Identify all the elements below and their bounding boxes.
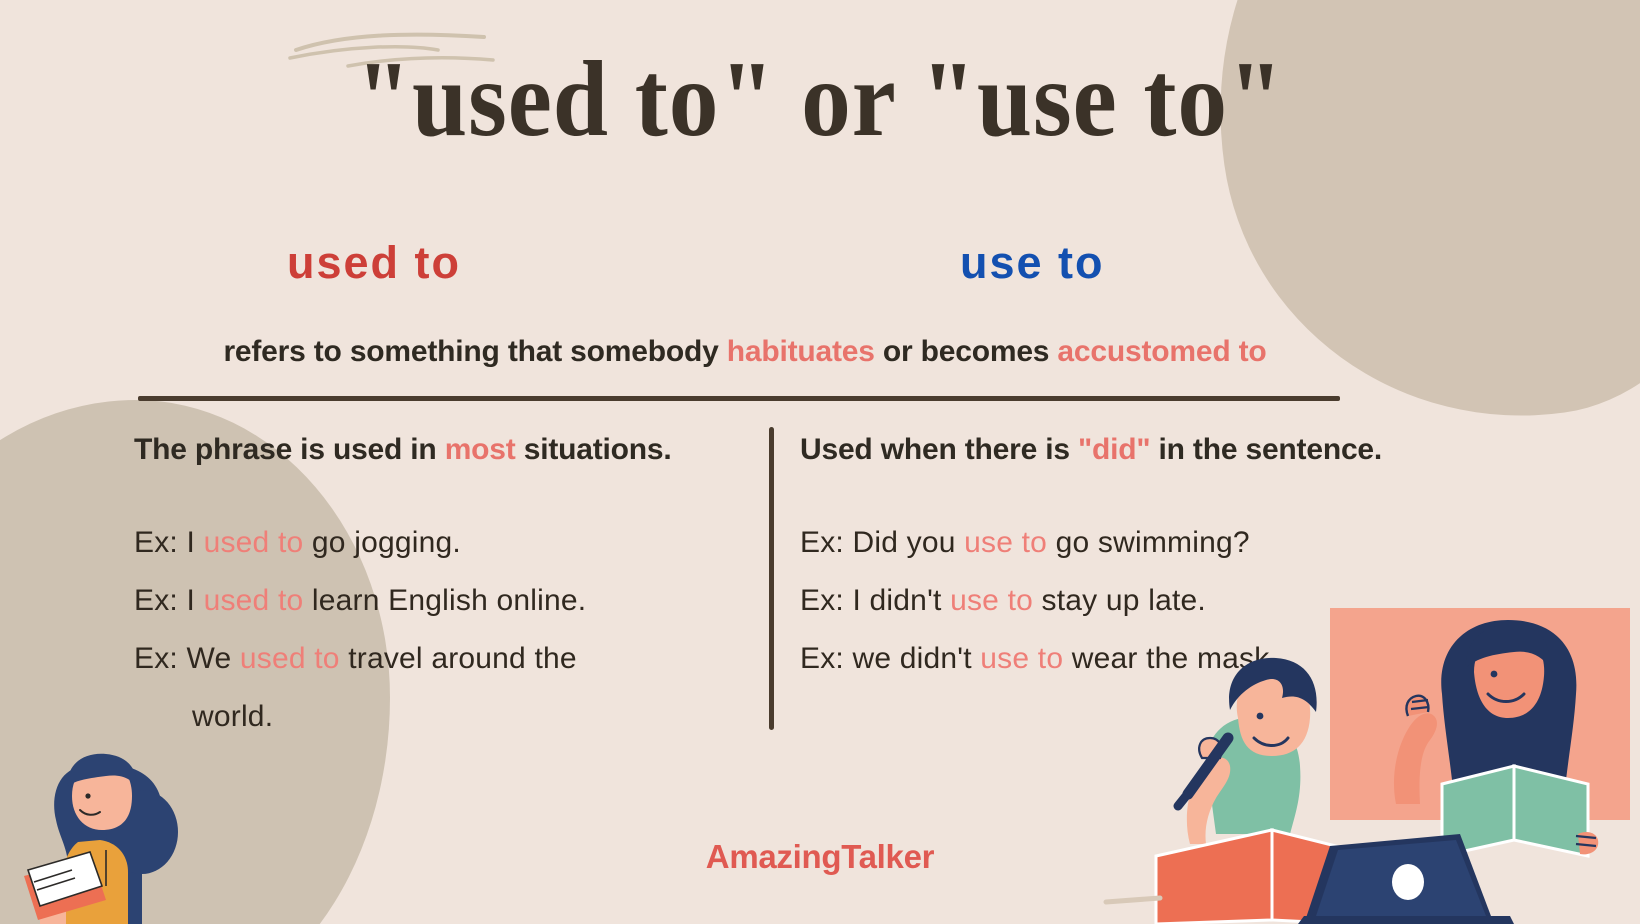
heading-used-to: used to — [287, 234, 461, 292]
left-examples: Ex: I used to go jogging. Ex: I used to … — [134, 514, 749, 746]
definition-part2: or becomes — [875, 335, 1058, 368]
example-highlight: used to — [240, 642, 340, 675]
list-item: Ex: I used to learn English online. — [134, 572, 749, 630]
vertical-divider — [769, 427, 774, 730]
example-suffix: learn English online. — [303, 584, 586, 617]
example-prefix: Ex: I — [134, 584, 204, 617]
example-continuation: world. — [134, 688, 749, 746]
example-highlight: used to — [204, 584, 304, 617]
left-lead-part2: situations. — [516, 433, 672, 466]
infographic-canvas: "used to" or "use to" used to use to ref… — [0, 0, 1640, 924]
example-highlight: use to — [964, 526, 1047, 559]
list-item: Ex: Did you use to go swimming? — [800, 514, 1460, 572]
definition-highlight-habituates: habituates — [727, 335, 875, 368]
definition-part1: refers to something that somebody — [223, 335, 726, 368]
definition-highlight-accustomed: accustomed to — [1057, 335, 1266, 368]
right-lead-highlight: "did" — [1078, 433, 1150, 466]
horizontal-divider — [138, 396, 1340, 401]
girl-reading-illustration — [10, 700, 220, 924]
example-suffix: go swimming? — [1047, 526, 1250, 559]
example-prefix: Ex: We — [134, 642, 240, 675]
heading-use-to: use to — [960, 234, 1105, 292]
column-used-to: The phrase is used in most situations. E… — [134, 428, 749, 746]
definition-line: refers to something that somebody habitu… — [140, 330, 1350, 374]
example-prefix: Ex: Did you — [800, 526, 964, 559]
example-highlight: use to — [950, 584, 1033, 617]
list-item: Ex: I used to go jogging. — [134, 514, 749, 572]
column-headings: used to use to — [0, 234, 1640, 294]
example-prefix: Ex: I didn't — [800, 584, 950, 617]
example-highlight: used to — [204, 526, 304, 559]
right-lead-part2: in the sentence. — [1150, 433, 1382, 466]
right-lead-text: Used when there is "did" in the sentence… — [800, 428, 1460, 472]
left-lead-text: The phrase is used in most situations. — [134, 428, 749, 472]
example-suffix: go jogging. — [303, 526, 461, 559]
right-lead-part1: Used when there is — [800, 433, 1078, 466]
left-lead-highlight: most — [445, 433, 516, 466]
students-learning-illustration — [1090, 598, 1640, 924]
example-prefix: Ex: we didn't — [800, 642, 980, 675]
list-item: Ex: We used to travel around theworld. — [134, 630, 749, 746]
left-lead-part1: The phrase is used in — [134, 433, 445, 466]
page-title: "used to" or "use to" — [66, 46, 1575, 154]
example-prefix: Ex: I — [134, 526, 204, 559]
example-highlight: use to — [980, 642, 1063, 675]
example-suffix: travel around the — [340, 642, 577, 675]
